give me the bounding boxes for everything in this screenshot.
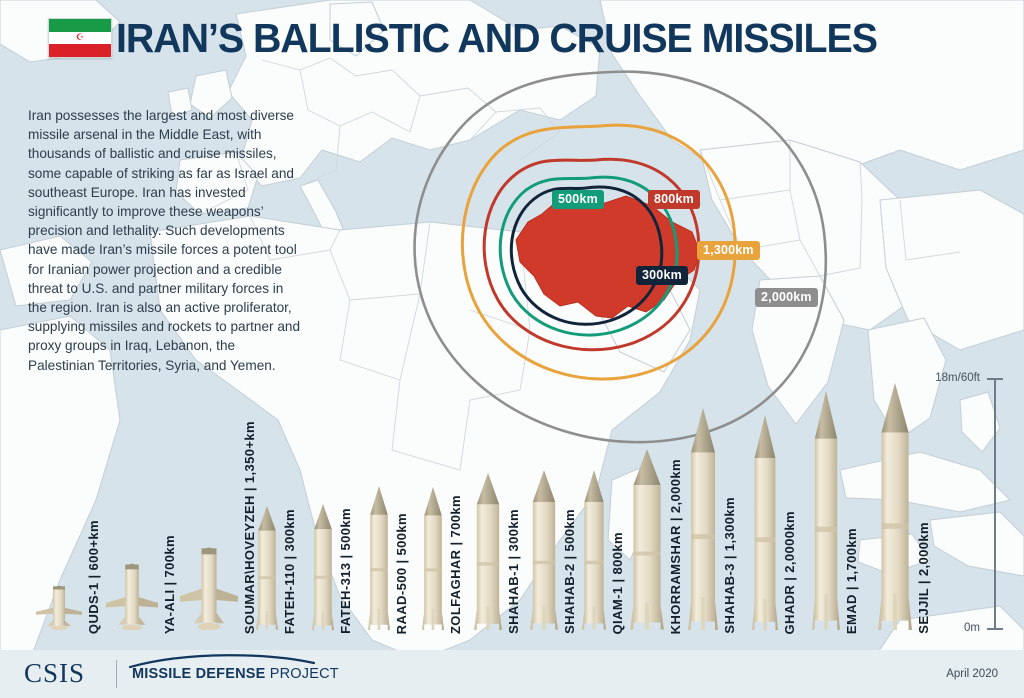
missile-shahab-3: SHAHAB-3 | 1,300km <box>688 408 718 630</box>
footer: CSIS MISSILE DEFENSE PROJECT April 2020 <box>0 650 1024 698</box>
missile-shape <box>256 506 278 630</box>
missile-raad-500: RAAD-500 | 500km <box>368 486 390 630</box>
ring-label-800km: 800km <box>648 190 700 209</box>
footer-divider <box>116 660 117 688</box>
missile-label-fateh-313: FATEH-313 | 500km <box>338 508 353 634</box>
ring-label-1300km: 1,300km <box>697 241 760 260</box>
missile-shape <box>688 408 718 630</box>
missile-quds-1: QUDS-1 | 600+km <box>36 584 82 630</box>
scale-tick-top <box>987 378 1003 380</box>
flag-band-green <box>49 19 111 32</box>
mdp-bold-text: MISSILE DEFENSE <box>132 666 266 682</box>
missile-fateh-110: FATEH-110 | 300km <box>256 506 278 630</box>
iran-emblem-icon: ☪ <box>76 33 84 42</box>
missile-qiam-1: QIAM-1 | 800km <box>582 470 606 630</box>
missile-shape <box>878 383 912 630</box>
missile-ya-ali: YA-ALI | 700km <box>106 561 158 630</box>
ring-label-300km: 300km <box>636 266 688 285</box>
height-scale-axis <box>994 378 996 630</box>
missile-shape <box>530 470 558 630</box>
missile-label-quds-1: QUDS-1 | 600+km <box>86 520 101 634</box>
scale-label-top: 18m/60ft <box>935 372 980 384</box>
missile-label-emad: EMAD | 1,700km <box>844 528 859 634</box>
infographic-root: 300km500km800km1,300km2,000km ☪ IRAN’S B… <box>0 0 1024 698</box>
missile-khorramshar: KHORRAMSHAR | 2,000km <box>630 449 664 630</box>
missile-shape <box>752 415 778 630</box>
missile-label-shahab-3: SHAHAB-3 | 1,300km <box>722 497 737 634</box>
missile-sejjil: SEJJIL | 2,000km <box>878 383 912 630</box>
missile-label-ya-ali: YA-ALI | 700km <box>162 535 177 634</box>
missile-shape <box>312 504 334 630</box>
missile-shape <box>422 487 444 630</box>
missile-label-zolfaghar: ZOLFAGHAR | 700km <box>448 495 463 634</box>
missile-label-shahab-2: SHAHAB-2 | 500km <box>562 509 577 634</box>
missile-shape <box>474 473 502 630</box>
flag-band-red <box>49 44 111 57</box>
missile-label-shahab-1: SHAHAB-1 | 300km <box>506 509 521 634</box>
missile-label-raad-500: RAAD-500 | 500km <box>394 513 409 634</box>
iran-flag-icon: ☪ <box>48 18 112 58</box>
missile-zolfaghar: ZOLFAGHAR | 700km <box>422 487 444 630</box>
ring-label-2000km: 2,000km <box>755 288 818 307</box>
missile-label-fateh-110: FATEH-110 | 300km <box>282 509 297 634</box>
flag-band-white: ☪ <box>49 32 111 45</box>
missile-ghadr: GHADR | 2,0000km <box>752 415 778 630</box>
mdp-light-text: PROJECT <box>266 666 339 682</box>
missile-label-ghadr: GHADR | 2,0000km <box>782 511 797 634</box>
missile-shape <box>368 486 390 630</box>
missile-soumar-hoveyzeh: SOUMAR\HOVEYZEH | 1,350+km <box>180 544 238 630</box>
missile-fateh-313: FATEH-313 | 500km <box>312 504 334 630</box>
missile-label-sejjil: SEJJIL | 2,000km <box>916 522 931 634</box>
missile-shape <box>36 584 82 630</box>
missile-defense-project-label: MISSILE DEFENSE PROJECT <box>132 666 339 682</box>
scale-label-bottom: 0m <box>964 622 980 634</box>
header: ☪ IRAN’S BALLISTIC AND CRUISE MISSILES <box>0 0 1024 76</box>
missile-shape <box>180 544 238 630</box>
ring-label-500km: 500km <box>552 190 604 209</box>
page-title: IRAN’S BALLISTIC AND CRUISE MISSILES <box>116 18 877 59</box>
missile-shape <box>582 470 606 630</box>
missile-shape <box>106 561 158 630</box>
csis-logo: CSIS <box>24 658 85 689</box>
missile-shahab-2: SHAHAB-2 | 500km <box>530 470 558 630</box>
missile-lineup: QUDS-1 | 600+km YA-ALI | 700km <box>0 330 1024 648</box>
scale-tick-bottom <box>987 628 1003 630</box>
missile-emad: EMAD | 1,700km <box>812 391 840 630</box>
missile-label-khorramshar: KHORRAMSHAR | 2,000km <box>668 459 683 634</box>
missile-shape <box>630 449 664 630</box>
missile-shahab-1: SHAHAB-1 | 300km <box>474 473 502 630</box>
missile-label-qiam-1: QIAM-1 | 800km <box>610 532 625 634</box>
publication-date: April 2020 <box>946 668 998 680</box>
missile-label-soumar-hoveyzeh: SOUMAR\HOVEYZEH | 1,350+km <box>242 421 257 634</box>
missile-shape <box>812 391 840 630</box>
